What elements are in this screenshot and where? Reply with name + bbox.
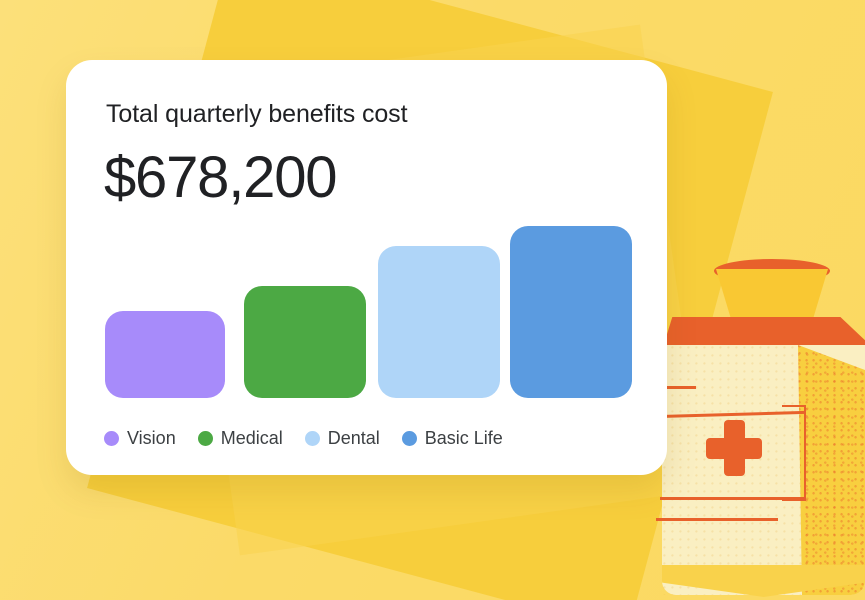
benefits-cost-card-screenshot: Total quarterly benefits cost $678,200 V…: [0, 0, 865, 600]
legend-item-label: Medical: [221, 428, 283, 449]
bar-chart: [105, 205, 635, 398]
legend-item-label: Dental: [328, 428, 380, 449]
legend-item-medical[interactable]: Medical: [198, 428, 283, 449]
chart-legend: VisionMedicalDentalBasic Life: [104, 428, 503, 449]
legend-item-label: Vision: [127, 428, 176, 449]
bottle-label-box: [782, 405, 806, 501]
card-title: Total quarterly benefits cost: [106, 100, 407, 129]
legend-dot-icon: [402, 431, 417, 446]
legend-item-basic-life[interactable]: Basic Life: [402, 428, 503, 449]
legend-item-vision[interactable]: Vision: [104, 428, 176, 449]
bar-dental[interactable]: [378, 246, 500, 398]
bar-basic-life[interactable]: [510, 226, 632, 398]
metric-card: Total quarterly benefits cost $678,200 V…: [66, 60, 667, 475]
card-total-value: $678,200: [104, 144, 336, 211]
medical-cross-icon: [706, 420, 762, 476]
cross-vertical-bar: [724, 420, 745, 476]
bottle-body-shadow-side: [798, 345, 865, 595]
bottle-label-line: [660, 497, 806, 500]
legend-item-dental[interactable]: Dental: [305, 428, 380, 449]
bottle-label-line: [656, 518, 778, 521]
bar-medical[interactable]: [244, 286, 366, 398]
legend-dot-icon: [104, 431, 119, 446]
legend-dot-icon: [198, 431, 213, 446]
legend-item-label: Basic Life: [425, 428, 503, 449]
bar-vision[interactable]: [105, 311, 225, 398]
legend-dot-icon: [305, 431, 320, 446]
bottle-cap-icon: [716, 269, 828, 325]
